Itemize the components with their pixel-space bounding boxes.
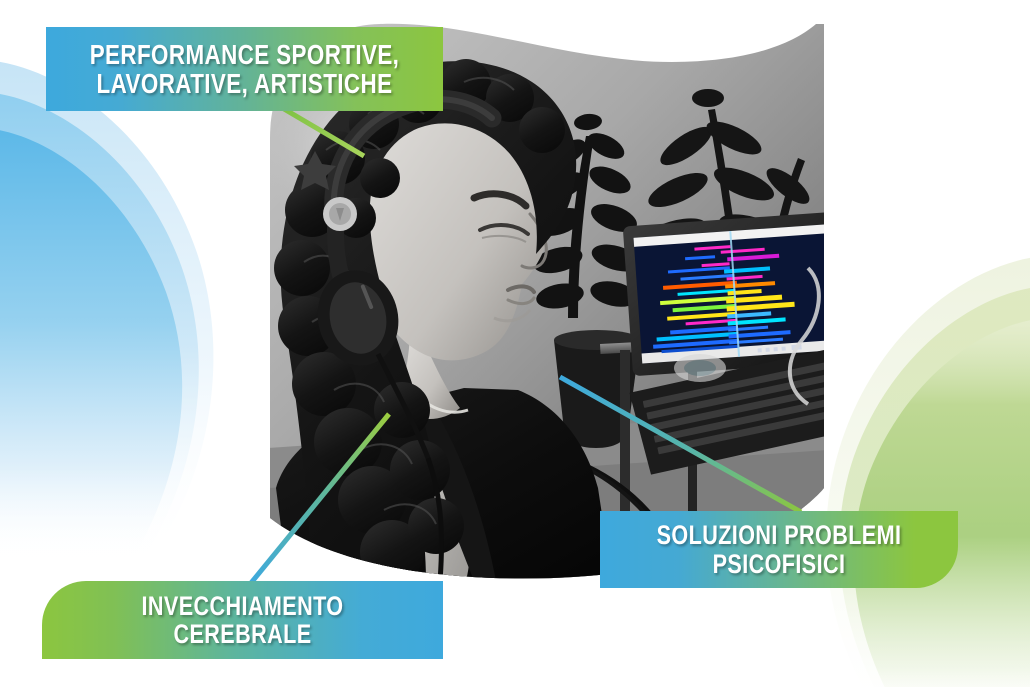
tablet <box>623 212 828 376</box>
left-blue-swoosh <box>0 59 213 560</box>
right-green-swoosh <box>826 255 1030 687</box>
label-performance[interactable]: PERFORMANCE SPORTIVE, LAVORATIVE, ARTIST… <box>46 27 443 111</box>
label-soluzioni-text: SOLUZIONI PROBLEMI PSICOFISICI <box>657 521 902 577</box>
label-soluzioni[interactable]: SOLUZIONI PROBLEMI PSICOFISICI <box>600 511 958 588</box>
label-invecchiamento[interactable]: INVECCHIAMENTO CEREBRALE <box>42 581 443 659</box>
poster-canvas: PERFORMANCE SPORTIVE, LAVORATIVE, ARTIST… <box>0 0 1030 687</box>
label-performance-text: PERFORMANCE SPORTIVE, LAVORATIVE, ARTIST… <box>90 40 400 98</box>
desk-logo <box>674 354 726 382</box>
label-invecchiamento-text: INVECCHIAMENTO CEREBRALE <box>82 592 403 648</box>
